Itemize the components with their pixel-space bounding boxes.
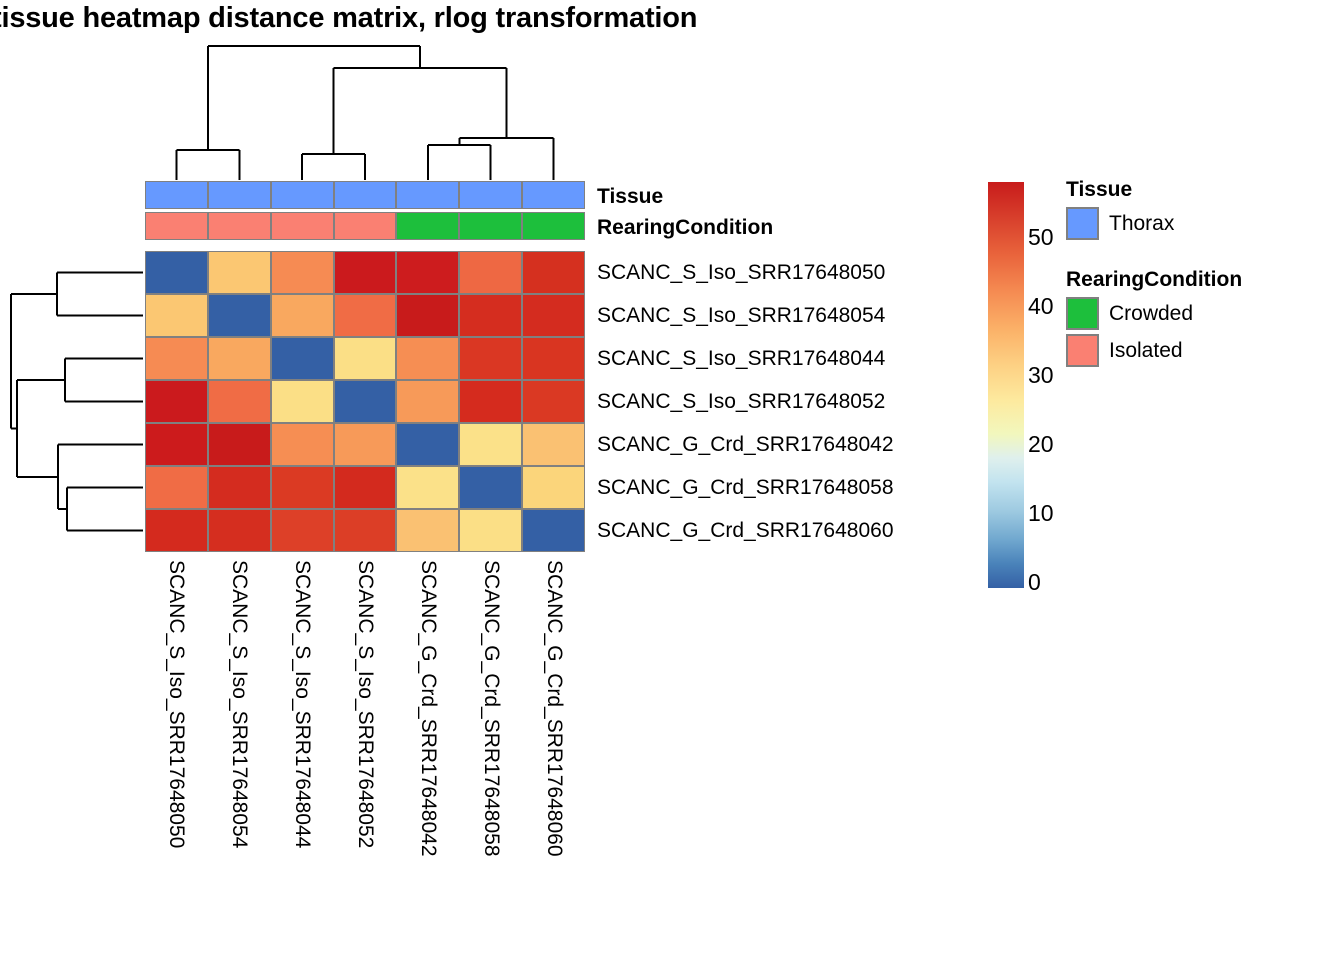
- heatmap-cell: [396, 423, 459, 466]
- annotation-label-tissue: Tissue: [597, 185, 663, 209]
- annotation-cell-tissue: [459, 181, 522, 209]
- legend-entry[interactable]: Thorax: [1066, 207, 1174, 240]
- heatmap-cell: [271, 294, 334, 337]
- column-label-wrap: SCANC_S_Iso_SRR17648052: [334, 560, 397, 950]
- heatmap-cell: [459, 423, 522, 466]
- row-label: SCANC_S_Iso_SRR17648054: [597, 294, 885, 337]
- heatmap-cell: [271, 251, 334, 294]
- annotation-cell-rearing-condition: [522, 212, 585, 240]
- column-label-wrap: SCANC_G_Crd_SRR17648060: [522, 560, 585, 950]
- heatmap-matrix: [145, 251, 585, 552]
- heatmap-cell: [271, 380, 334, 423]
- heatmap-cell: [271, 509, 334, 552]
- row-label: SCANC_G_Crd_SRR17648060: [597, 509, 894, 552]
- annotation-cell-tissue: [396, 181, 459, 209]
- heatmap-cell: [396, 337, 459, 380]
- heatmap-cell: [145, 251, 208, 294]
- legend-label: Isolated: [1109, 339, 1183, 363]
- heatmap-cell: [396, 380, 459, 423]
- heatmap-cell: [522, 337, 585, 380]
- heatmap-cell: [271, 423, 334, 466]
- heatmap-cell: [522, 509, 585, 552]
- column-label-wrap: SCANC_G_Crd_SRR17648058: [459, 560, 522, 950]
- heatmap-cell: [208, 423, 271, 466]
- column-label: SCANC_S_Iso_SRR17648044: [290, 560, 314, 848]
- heatmap-cell: [208, 509, 271, 552]
- column-label: SCANC_S_Iso_SRR17648050: [164, 560, 188, 848]
- heatmap-cell: [145, 423, 208, 466]
- heatmap-cell: [208, 337, 271, 380]
- heatmap-cell: [396, 251, 459, 294]
- colorbar-tick-label: 50: [1028, 224, 1054, 251]
- heatmap-cell: [396, 466, 459, 509]
- heatmap-cell: [459, 466, 522, 509]
- heatmap-cell: [208, 294, 271, 337]
- legend-swatch: [1066, 207, 1099, 240]
- colorbar-tick-label: 0: [1028, 569, 1041, 596]
- heatmap-cell: [459, 380, 522, 423]
- heatmap-cell: [334, 294, 397, 337]
- annotation-bar-tissue: [145, 181, 585, 209]
- heatmap-cell: [145, 509, 208, 552]
- column-label-wrap: SCANC_S_Iso_SRR17648050: [145, 560, 208, 950]
- annotation-cell-tissue: [145, 181, 208, 209]
- annotation-cell-rearing-condition: [334, 212, 397, 240]
- annotation-bar-rearing-condition: [145, 212, 585, 240]
- annotation-cell-rearing-condition: [459, 212, 522, 240]
- row-label: SCANC_G_Crd_SRR17648042: [597, 423, 894, 466]
- heatmap-cell: [522, 294, 585, 337]
- heatmap-cell: [145, 294, 208, 337]
- annotation-cell-tissue: [208, 181, 271, 209]
- heatmap-cell: [334, 380, 397, 423]
- annotation-cell-tissue: [334, 181, 397, 209]
- heatmap-cell: [396, 509, 459, 552]
- annotation-cell-rearing-condition: [208, 212, 271, 240]
- heatmap-cell: [271, 466, 334, 509]
- column-dendrogram: [145, 40, 585, 180]
- heatmap-figure: tissue heatmap distance matrix, rlog tra…: [0, 0, 1344, 960]
- heatmap-cell: [396, 294, 459, 337]
- row-label: SCANC_G_Crd_SRR17648058: [597, 466, 894, 509]
- annotation-cell-rearing-condition: [396, 212, 459, 240]
- colorbar-tick-label: 40: [1028, 293, 1054, 320]
- heatmap-cell: [145, 380, 208, 423]
- colorbar-gradient: [988, 182, 1024, 588]
- heatmap-cell: [208, 466, 271, 509]
- heatmap-cell: [334, 423, 397, 466]
- annotation-cell-rearing-condition: [271, 212, 334, 240]
- legend-label: Thorax: [1109, 212, 1174, 236]
- heatmap-cell: [334, 466, 397, 509]
- heatmap-cell: [145, 337, 208, 380]
- colorbar-tick-label: 20: [1028, 431, 1054, 458]
- column-label: SCANC_S_Iso_SRR17648054: [227, 560, 251, 848]
- legend-swatch: [1066, 297, 1099, 330]
- annotation-label-rearing-condition: RearingCondition: [597, 216, 773, 240]
- heatmap-cell: [459, 251, 522, 294]
- heatmap-cell: [459, 294, 522, 337]
- heatmap-cell: [459, 509, 522, 552]
- row-label: SCANC_S_Iso_SRR17648052: [597, 380, 885, 423]
- column-label-wrap: SCANC_G_Crd_SRR17648042: [396, 560, 459, 950]
- heatmap-cell: [334, 251, 397, 294]
- heatmap-cell: [522, 380, 585, 423]
- annotation-cell-rearing-condition: [145, 212, 208, 240]
- column-label-wrap: SCANC_S_Iso_SRR17648044: [271, 560, 334, 950]
- heatmap-cell: [522, 423, 585, 466]
- column-label: SCANC_G_Crd_SRR17648042: [416, 560, 440, 857]
- heatmap-cell: [459, 337, 522, 380]
- row-label: SCANC_S_Iso_SRR17648044: [597, 337, 885, 380]
- heatmap-cell: [208, 380, 271, 423]
- legend-swatch: [1066, 334, 1099, 367]
- column-label: SCANC_S_Iso_SRR17648052: [353, 560, 377, 848]
- colorbar-tick-label: 30: [1028, 362, 1054, 389]
- colorbar-tick-label: 10: [1028, 500, 1054, 527]
- heatmap-cell: [334, 509, 397, 552]
- annotation-cell-tissue: [522, 181, 585, 209]
- column-label-wrap: SCANC_S_Iso_SRR17648054: [208, 560, 271, 950]
- legend-title: RearingCondition: [1066, 268, 1242, 292]
- row-dendrogram: [5, 251, 143, 552]
- heatmap-cell: [334, 337, 397, 380]
- legend-entry[interactable]: Crowded: [1066, 297, 1193, 330]
- legend-entry[interactable]: Isolated: [1066, 334, 1183, 367]
- page-title: tissue heatmap distance matrix, rlog tra…: [0, 2, 697, 35]
- column-label: SCANC_G_Crd_SRR17648058: [479, 560, 503, 857]
- heatmap-cell: [522, 251, 585, 294]
- legend-label: Crowded: [1109, 302, 1193, 326]
- legend-title: Tissue: [1066, 178, 1132, 202]
- row-label: SCANC_S_Iso_SRR17648050: [597, 251, 885, 294]
- heatmap-cell: [522, 466, 585, 509]
- heatmap-cell: [271, 337, 334, 380]
- heatmap-cell: [208, 251, 271, 294]
- column-label: SCANC_G_Crd_SRR17648060: [542, 560, 566, 857]
- annotation-cell-tissue: [271, 181, 334, 209]
- heatmap-cell: [145, 466, 208, 509]
